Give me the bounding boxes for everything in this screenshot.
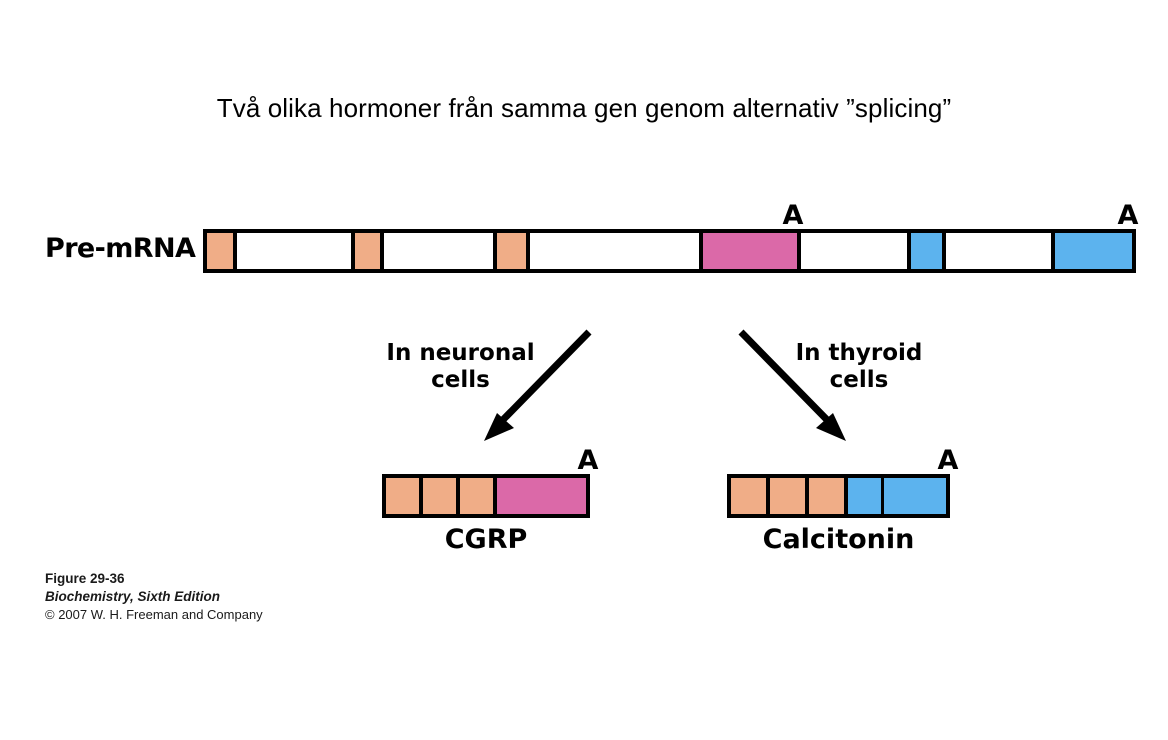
pre-mrna-segment-9-intron: [946, 233, 1054, 269]
product-calcitonin-segment-4: [884, 478, 946, 514]
pre-mrna-segment-10-exon: [1055, 233, 1132, 269]
product-bar-calcitonin: [727, 474, 950, 518]
figure-canvas: Två olika hormoner från samma gen genom …: [0, 0, 1168, 740]
pre-mrna-segment-8-exon: [911, 233, 946, 269]
product-cgrp-segment-3: [497, 478, 586, 514]
polya-marker-transcript-blue: A: [1111, 202, 1145, 229]
pre-mrna-transcript-bar: [203, 229, 1136, 273]
product-bar-cgrp: [382, 474, 590, 518]
product-calcitonin-segment-1: [770, 478, 809, 514]
polya-marker-cgrp: A: [571, 447, 605, 474]
product-calcitonin-segment-3: [848, 478, 884, 514]
pre-mrna-label: Pre-mRNA: [45, 233, 195, 264]
product-label-cgrp: CGRP: [382, 524, 590, 555]
pre-mrna-segment-6-exon: [703, 233, 801, 269]
product-cgrp-segment-2: [460, 478, 497, 514]
product-cgrp-segment-1: [423, 478, 460, 514]
pre-mrna-segment-4-exon: [497, 233, 530, 269]
pre-mrna-segment-2-exon: [355, 233, 384, 269]
product-calcitonin-segment-2: [809, 478, 848, 514]
caption-copyright: © 2007 W. H. Freeman and Company: [45, 606, 465, 624]
figure-caption: Figure 29-36 Biochemistry, Sixth Edition…: [45, 570, 465, 625]
arrow-to-neuronal-product: [470, 325, 600, 450]
product-cgrp-segment-0: [386, 478, 423, 514]
pre-mrna-segment-5-intron: [530, 233, 703, 269]
caption-source-title: Biochemistry, Sixth Edition: [45, 588, 465, 606]
pre-mrna-segment-1-intron: [237, 233, 355, 269]
pre-mrna-segment-0-exon: [207, 233, 237, 269]
product-label-calcitonin: Calcitonin: [727, 524, 950, 555]
arrow-to-thyroid-product: [730, 325, 860, 450]
product-calcitonin-segment-0: [731, 478, 770, 514]
polya-marker-transcript-pink: A: [776, 202, 810, 229]
pre-mrna-segment-3-intron: [384, 233, 497, 269]
caption-figure-number: Figure 29-36: [45, 570, 465, 588]
polya-marker-calcitonin: A: [931, 447, 965, 474]
slide-title: Två olika hormoner från samma gen genom …: [0, 93, 1168, 124]
pre-mrna-segment-7-intron: [801, 233, 911, 269]
